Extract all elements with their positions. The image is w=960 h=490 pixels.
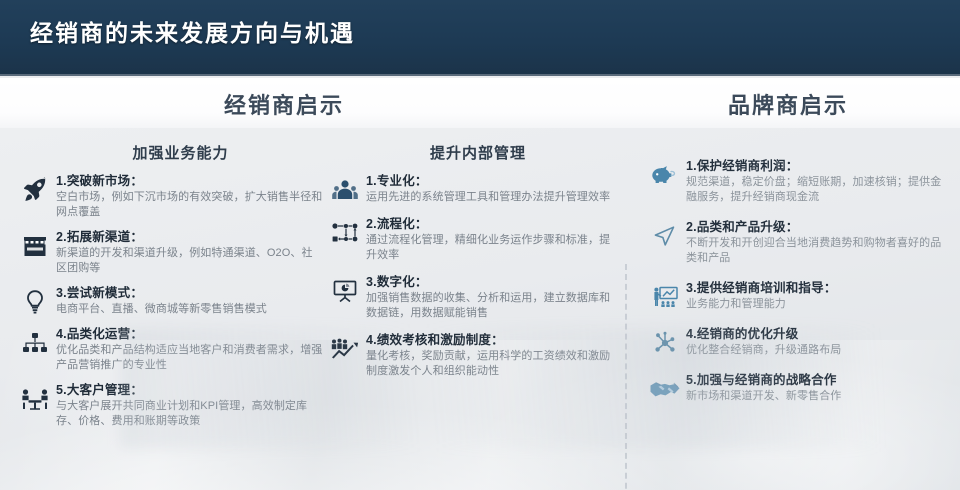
list-item[interactable]: 1.保护经销商利润： 规范渠道，稳定价盘；缩短账期，加速核销；提供金融服务，提升…: [648, 158, 948, 205]
slide-root: 经销商的未来发展方向与机遇 经销商启示 品牌商启示 加强业务能力: [0, 0, 960, 490]
item-desc: 新渠道的开发和渠道升级，例如特通渠道、O2O、社区团购等: [56, 246, 323, 276]
item-desc: 新市场和渠道开发、新零售合作: [686, 389, 948, 404]
workflow-icon: [328, 218, 362, 248]
item-desc: 加强销售数据的收集、分析和运用，建立数据库和数据链，用数据赋能销售: [366, 291, 618, 321]
list-item[interactable]: 5.大客户管理： 与大客户展开共同商业计划和KPI管理，高效制定库存、价格、费用…: [18, 382, 323, 429]
item-text: 1.突破新市场： 空白市场，例如下沉市场的有效突破，扩大销售半径和网点覆盖: [56, 173, 323, 220]
column-title-1: 加强业务能力: [18, 128, 323, 163]
businessman-icon: [328, 175, 362, 205]
item-title: 2.流程化：: [366, 216, 618, 232]
item-text: 3.尝试新模式： 电商平台、直播、微商城等新零售销售模式: [56, 285, 323, 317]
item-title: 1.突破新市场：: [56, 173, 323, 189]
item-title: 5.大客户管理：: [56, 382, 323, 398]
item-title: 2.拓展新渠道：: [56, 229, 323, 245]
storefront-icon: [18, 231, 52, 261]
item-desc: 与大客户展开共同商业计划和KPI管理，高效制定库存、价格、费用和账期等政策: [56, 399, 323, 429]
item-text: 2.流程化： 通过流程化管理，精细化业务运作步骤和标准，提升效率: [366, 216, 618, 263]
list-item[interactable]: 2.品类和产品升级： 不断开发和开创迎合当地消费趋势和购物者喜好的品类和产品: [648, 219, 948, 266]
section-heading-distributor: 经销商启示: [224, 88, 344, 120]
item-list-3: 1.保护经销商利润： 规范渠道，稳定价盘；缩短账期，加速核销；提供金融服务，提升…: [648, 128, 948, 404]
column-divider: [625, 264, 627, 490]
item-desc: 通过流程化管理，精细化业务运作步骤和标准，提升效率: [366, 233, 618, 263]
item-text: 2.品类和产品升级： 不断开发和开创迎合当地消费趋势和购物者喜好的品类和产品: [686, 219, 948, 266]
item-text: 1.专业化： 运用先进的系统管理工具和管理办法提升管理效率: [366, 173, 618, 205]
item-title: 3.尝试新模式：: [56, 285, 323, 301]
section-heading-brand: 品牌商启示: [728, 88, 848, 120]
item-desc: 规范渠道，稳定价盘；缩短账期，加速核销；提供金融服务，提升经销商现金流: [686, 175, 948, 205]
list-item[interactable]: 2.流程化： 通过流程化管理，精细化业务运作步骤和标准，提升效率: [328, 216, 618, 263]
item-desc: 量化考核，奖励贡献，运用科学的工资绩效和激励制度激发个人和组织能动性: [366, 349, 618, 379]
item-desc: 业务能力和管理能力: [686, 297, 948, 312]
column-strengthen-business-capability: 加强业务能力 1.突破新市场： 空白市场，例如下沉市场的有效突破，扩大销: [18, 128, 323, 438]
performance-growth-icon: [328, 334, 362, 364]
column-title-2: 提升内部管理: [328, 128, 618, 163]
item-title: 4.绩效考核和激励制度：: [366, 332, 618, 348]
item-title: 2.品类和产品升级：: [686, 219, 948, 235]
list-item[interactable]: 4.绩效考核和激励制度： 量化考核，奖励贡献，运用科学的工资绩效和激励制度激发个…: [328, 332, 618, 379]
item-desc: 运用先进的系统管理工具和管理办法提升管理效率: [366, 190, 618, 205]
item-desc: 不断开发和开创迎合当地消费趋势和购物者喜好的品类和产品: [686, 236, 948, 266]
item-text: 2.拓展新渠道： 新渠道的开发和渠道升级，例如特通渠道、O2O、社区团购等: [56, 229, 323, 276]
paper-plane-icon: [648, 221, 682, 251]
item-text: 4.绩效考核和激励制度： 量化考核，奖励贡献，运用科学的工资绩效和激励制度激发个…: [366, 332, 618, 379]
list-item[interactable]: 4.品类化运营： 优化品类和产品结构适应当地客户和消费者需求，增强产品营销推广的…: [18, 326, 323, 373]
column-improve-internal-management: 提升内部管理: [328, 128, 618, 390]
list-item[interactable]: 4.经销商的优化升级 优化整合经销商，升级通路布局: [648, 326, 948, 358]
page-title: 经销商的未来发展方向与机遇: [30, 14, 355, 48]
list-item[interactable]: 5.加强与经销商的战略合作 新市场和渠道开发、新零售合作: [648, 372, 948, 404]
item-title: 1.保护经销商利润：: [686, 158, 948, 174]
content-panel: 加强业务能力 1.突破新市场： 空白市场，例如下沉市场的有效突破，扩大销: [0, 128, 960, 490]
item-text: 1.保护经销商利润： 规范渠道，稳定价盘；缩短账期，加速核销；提供金融服务，提升…: [686, 158, 948, 205]
piggy-bank-icon: [648, 160, 682, 190]
list-item[interactable]: 3.数字化： 加强销售数据的收集、分析和运用，建立数据库和数据链，用数据赋能销售: [328, 274, 618, 321]
item-title: 5.加强与经销商的战略合作: [686, 372, 948, 388]
item-desc: 优化整合经销商，升级通路布局: [686, 343, 948, 358]
list-item[interactable]: 1.突破新市场： 空白市场，例如下沉市场的有效突破，扩大销售半径和网点覆盖: [18, 173, 323, 220]
item-title: 1.专业化：: [366, 173, 618, 189]
item-title: 4.品类化运营：: [56, 326, 323, 342]
item-title: 4.经销商的优化升级: [686, 326, 948, 342]
item-desc: 空白市场，例如下沉市场的有效突破，扩大销售半径和网点覆盖: [56, 190, 323, 220]
item-text: 4.品类化运营： 优化品类和产品结构适应当地客户和消费者需求，增强产品营销推广的…: [56, 326, 323, 373]
item-text: 4.经销商的优化升级 优化整合经销商，升级通路布局: [686, 326, 948, 358]
item-text: 5.大客户管理： 与大客户展开共同商业计划和KPI管理，高效制定库存、价格、费用…: [56, 382, 323, 429]
rocket-icon: [18, 175, 52, 205]
title-bar: 经销商的未来发展方向与机遇: [0, 0, 960, 76]
network-nodes-icon: [648, 328, 682, 358]
item-desc: 优化品类和产品结构适应当地客户和消费者需求，增强产品营销推广的专业性: [56, 343, 323, 373]
item-desc: 电商平台、直播、微商城等新零售销售模式: [56, 302, 323, 317]
column-brand-owner-insights: 1.保护经销商利润： 规范渠道，稳定价盘；缩短账期，加速核销；提供金融服务，提升…: [648, 128, 948, 418]
item-list-2: 1.专业化： 运用先进的系统管理工具和管理办法提升管理效率: [328, 173, 618, 379]
list-item[interactable]: 1.专业化： 运用先进的系统管理工具和管理办法提升管理效率: [328, 173, 618, 205]
meeting-table-icon: [18, 384, 52, 414]
list-item[interactable]: 2.拓展新渠道： 新渠道的开发和渠道升级，例如特通渠道、O2O、社区团购等: [18, 229, 323, 276]
item-title: 3.数字化：: [366, 274, 618, 290]
item-title: 3.提供经销商培训和指导：: [686, 280, 948, 296]
handshake-icon: [648, 374, 682, 404]
item-list-1: 1.突破新市场： 空白市场，例如下沉市场的有效突破，扩大销售半径和网点覆盖: [18, 173, 323, 429]
training-board-icon: [648, 282, 682, 312]
list-item[interactable]: 3.尝试新模式： 电商平台、直播、微商城等新零售销售模式: [18, 285, 323, 317]
item-text: 5.加强与经销商的战略合作 新市场和渠道开发、新零售合作: [686, 372, 948, 404]
item-text: 3.数字化： 加强销售数据的收集、分析和运用，建立数据库和数据链，用数据赋能销售: [366, 274, 618, 321]
list-item[interactable]: 3.提供经销商培训和指导： 业务能力和管理能力: [648, 280, 948, 312]
presentation-chart-icon: [328, 276, 362, 306]
item-text: 3.提供经销商培训和指导： 业务能力和管理能力: [686, 280, 948, 312]
org-chart-icon: [18, 328, 52, 358]
lightbulb-icon: [18, 287, 52, 317]
